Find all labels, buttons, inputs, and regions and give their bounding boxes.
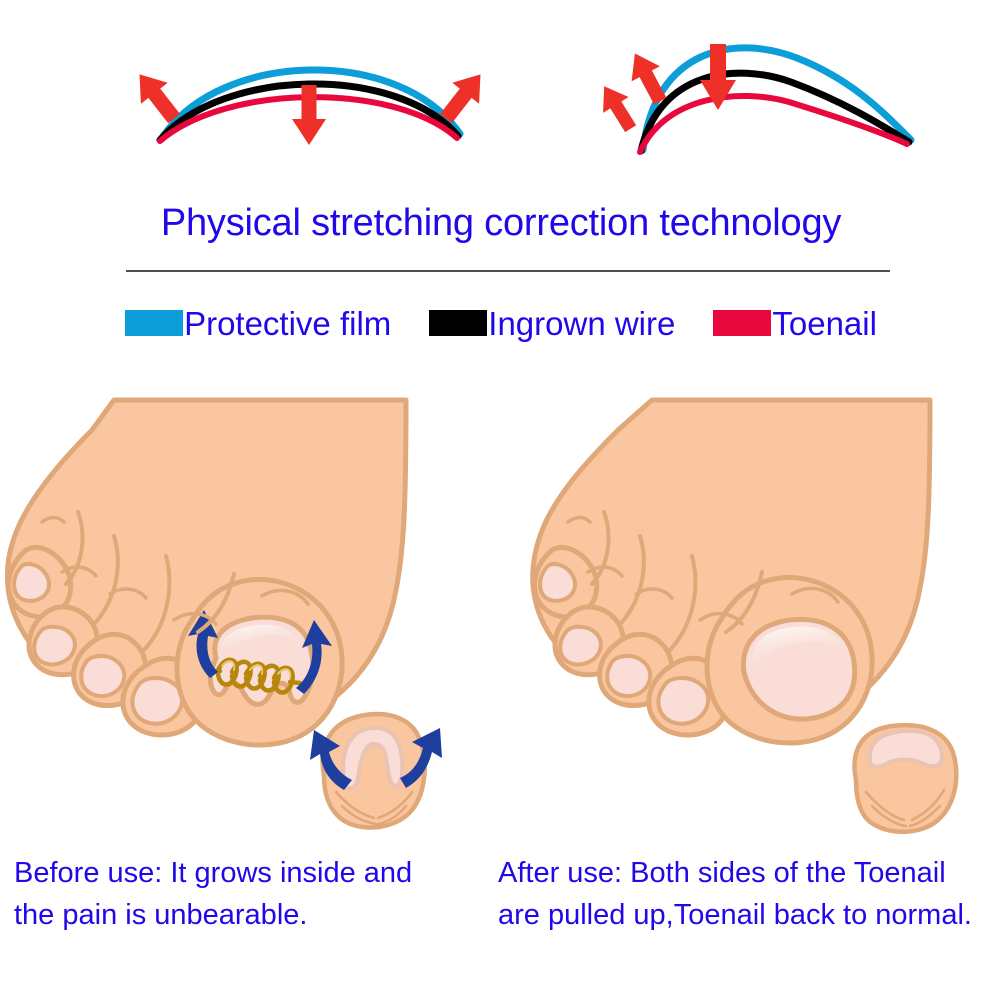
- section-divider: [126, 270, 890, 272]
- swatch-icon: [713, 310, 771, 336]
- caption-after-use: After use: Both sides of the Toenail are…: [498, 852, 998, 936]
- legend-label: Toenail: [772, 307, 877, 340]
- toenail-second: [132, 678, 182, 724]
- caption-line-2: the pain is unbearable.: [14, 894, 484, 936]
- legend-item-toenail: Toenail: [713, 307, 877, 340]
- swatch-icon: [429, 310, 487, 336]
- symmetric-arc-diagram: [110, 10, 510, 190]
- inset-normal-nail: [870, 731, 942, 767]
- toenail-little: [540, 564, 575, 601]
- toe-cross-section-inset: [310, 714, 442, 827]
- legend-label: Ingrown wire: [488, 307, 675, 340]
- caption-line-2: are pulled up,Toenail back to normal.: [498, 894, 998, 936]
- legend-label: Protective film: [184, 307, 391, 340]
- toenail-curve: [640, 96, 907, 152]
- asymmetric-arc-diagram: [585, 10, 940, 190]
- legend: Protective film Ingrown wire Toenail: [0, 302, 1002, 344]
- legend-item-protective-film: Protective film: [125, 307, 391, 340]
- infographic-canvas: Physical stretching correction technolog…: [0, 0, 1002, 1002]
- toenail-little: [14, 564, 49, 601]
- toenail-second: [658, 678, 708, 724]
- schematic-band: [0, 10, 1002, 190]
- foot-after-use: [500, 382, 1000, 852]
- toenail-third: [81, 656, 124, 696]
- toenail-fourth: [34, 627, 75, 665]
- legend-item-ingrown-wire: Ingrown wire: [429, 307, 675, 340]
- swatch-icon: [125, 310, 183, 336]
- page-title: Physical stretching correction technolog…: [0, 202, 1002, 245]
- press-arrow-center: [292, 85, 326, 145]
- caption-line-1: Before use: It grows inside and: [14, 852, 484, 894]
- caption-before-use: Before use: It grows inside and the pain…: [14, 852, 484, 936]
- toenail-third: [607, 656, 650, 696]
- toe-cross-section-inset: [855, 725, 957, 832]
- caption-line-1: After use: Both sides of the Toenail: [498, 852, 998, 894]
- lift-arrow-lower: [591, 78, 643, 136]
- toenail-fourth: [560, 627, 601, 665]
- foot-before-use: [0, 382, 488, 852]
